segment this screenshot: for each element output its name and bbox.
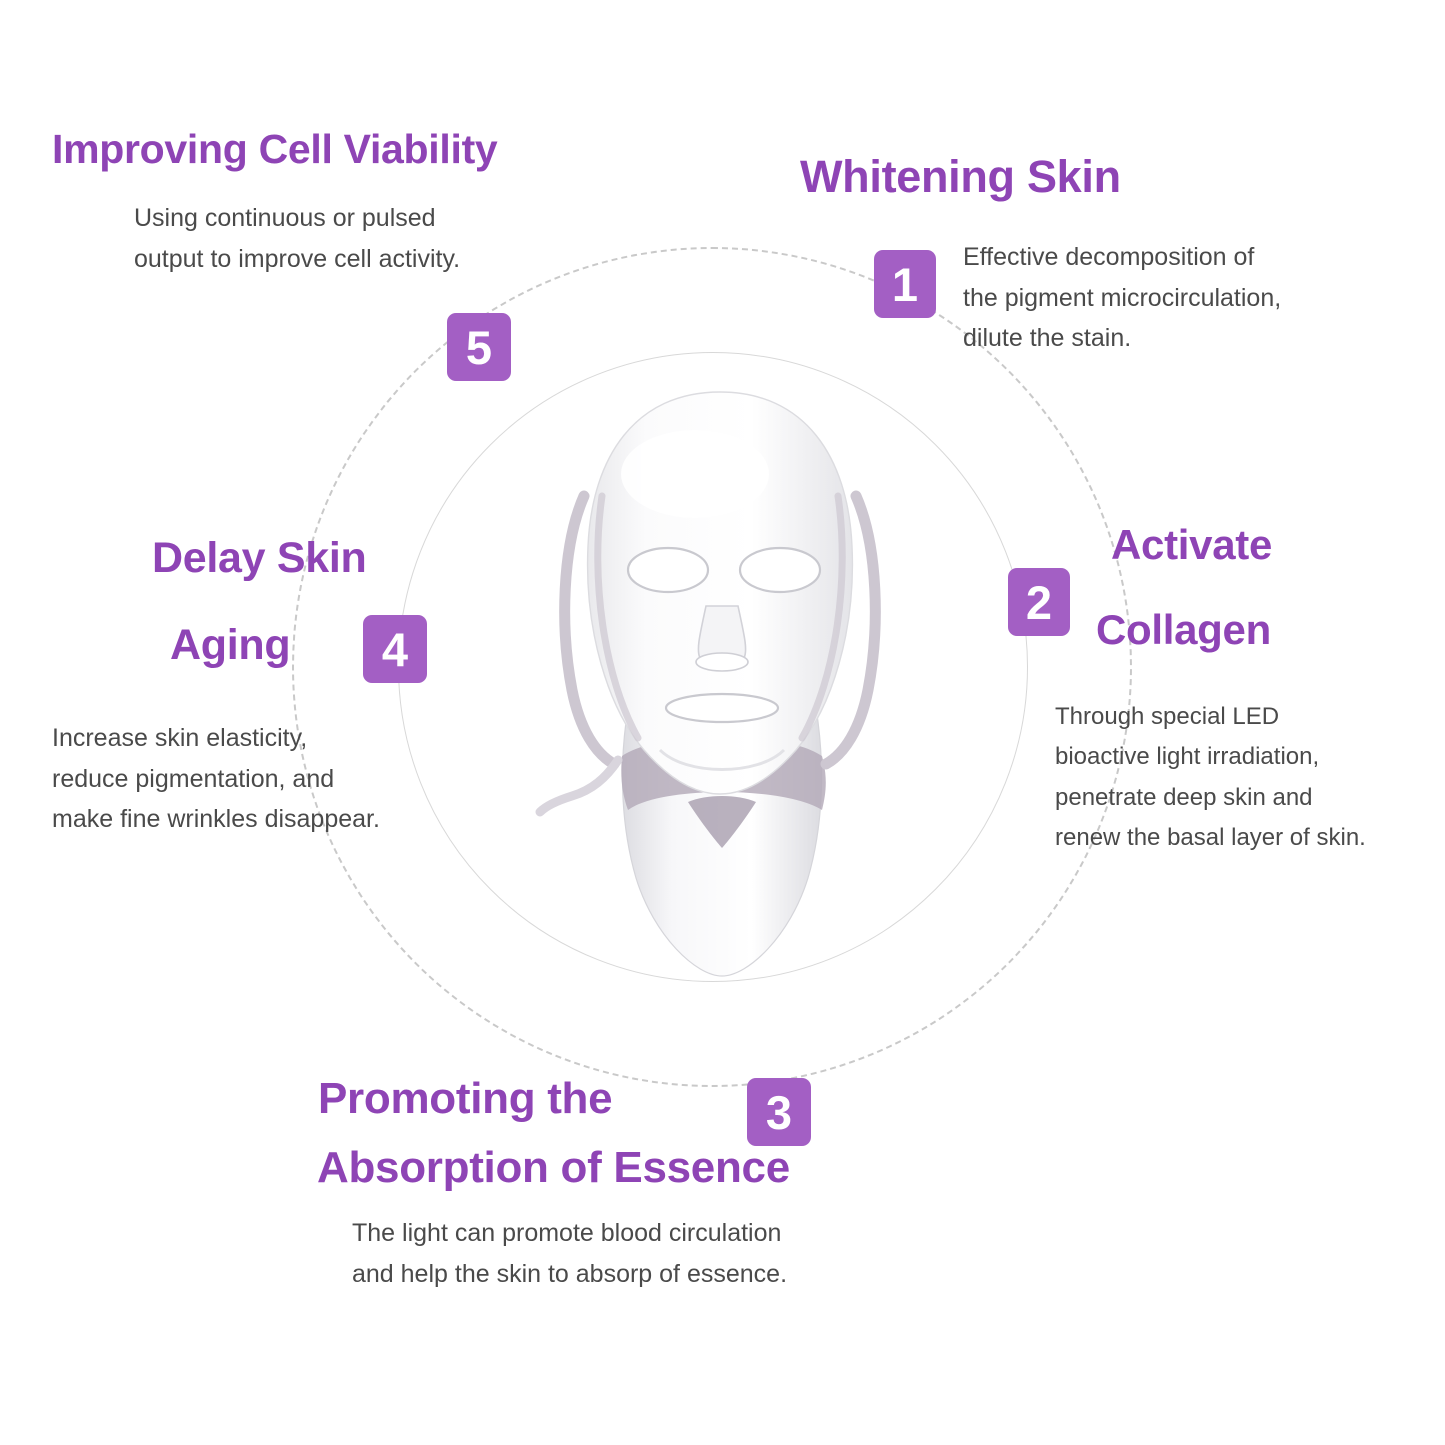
led-mask-illustration <box>510 378 930 998</box>
feature-2-title-line-2: Collagen <box>1096 605 1271 655</box>
feature-1-body-line-3: dilute the stain. <box>963 318 1393 359</box>
feature-2-body-line-1: Through special LED <box>1055 697 1435 737</box>
feature-1-number-badge: 1 <box>874 250 936 318</box>
feature-2-title-line-1: Activate <box>1111 520 1272 570</box>
feature-1-title: Whitening Skin <box>800 150 1121 203</box>
forehead-highlight <box>621 430 769 518</box>
feature-1-body-line-2: the pigment microcirculation, <box>963 278 1393 319</box>
power-cable <box>540 760 618 812</box>
feature-5-body-line-1: Using continuous or pulsed <box>134 198 554 239</box>
feature-4-title-line-2: Aging <box>170 620 290 671</box>
right-eye-opening <box>740 548 820 592</box>
feature-3-body: The light can promote blood circulation … <box>352 1213 972 1294</box>
feature-5-number-badge: 5 <box>447 313 511 381</box>
feature-3-title-line-2: Absorption of Essence <box>317 1142 790 1194</box>
feature-4-number-badge: 4 <box>363 615 427 683</box>
feature-3-title-line-1: Promoting the <box>318 1073 612 1125</box>
feature-3-body-line-2: and help the skin to absorp of essence. <box>352 1254 972 1295</box>
feature-1-body: Effective decomposition of the pigment m… <box>963 237 1393 359</box>
feature-3-body-line-1: The light can promote blood circulation <box>352 1213 972 1254</box>
feature-4-title-line-1: Delay Skin <box>152 533 367 584</box>
feature-4-body-line-2: reduce pigmentation, and <box>52 759 472 800</box>
feature-4-body-line-3: make fine wrinkles disappear. <box>52 799 472 840</box>
feature-2-body-line-4: renew the basal layer of skin. <box>1055 818 1435 858</box>
nose-opening <box>696 653 748 671</box>
mouth-opening <box>666 694 778 722</box>
left-eye-opening <box>628 548 708 592</box>
feature-5-body: Using continuous or pulsed output to imp… <box>134 198 554 279</box>
feature-2-body-line-3: penetrate deep skin and <box>1055 778 1435 818</box>
feature-5-title: Improving Cell Viability <box>52 125 497 173</box>
feature-2-body: Through special LED bioactive light irra… <box>1055 697 1435 858</box>
product-image <box>510 378 930 998</box>
infographic-page: Improving Cell Viability Using continuou… <box>0 0 1445 1445</box>
feature-4-body: Increase skin elasticity, reduce pigment… <box>52 718 472 840</box>
feature-4-body-line-1: Increase skin elasticity, <box>52 718 472 759</box>
feature-2-number-badge: 2 <box>1008 568 1070 636</box>
feature-5-body-line-2: output to improve cell activity. <box>134 239 554 280</box>
feature-2-body-line-2: bioactive light irradiation, <box>1055 737 1435 777</box>
feature-3-number-badge: 3 <box>747 1078 811 1146</box>
feature-1-body-line-1: Effective decomposition of <box>963 237 1393 278</box>
